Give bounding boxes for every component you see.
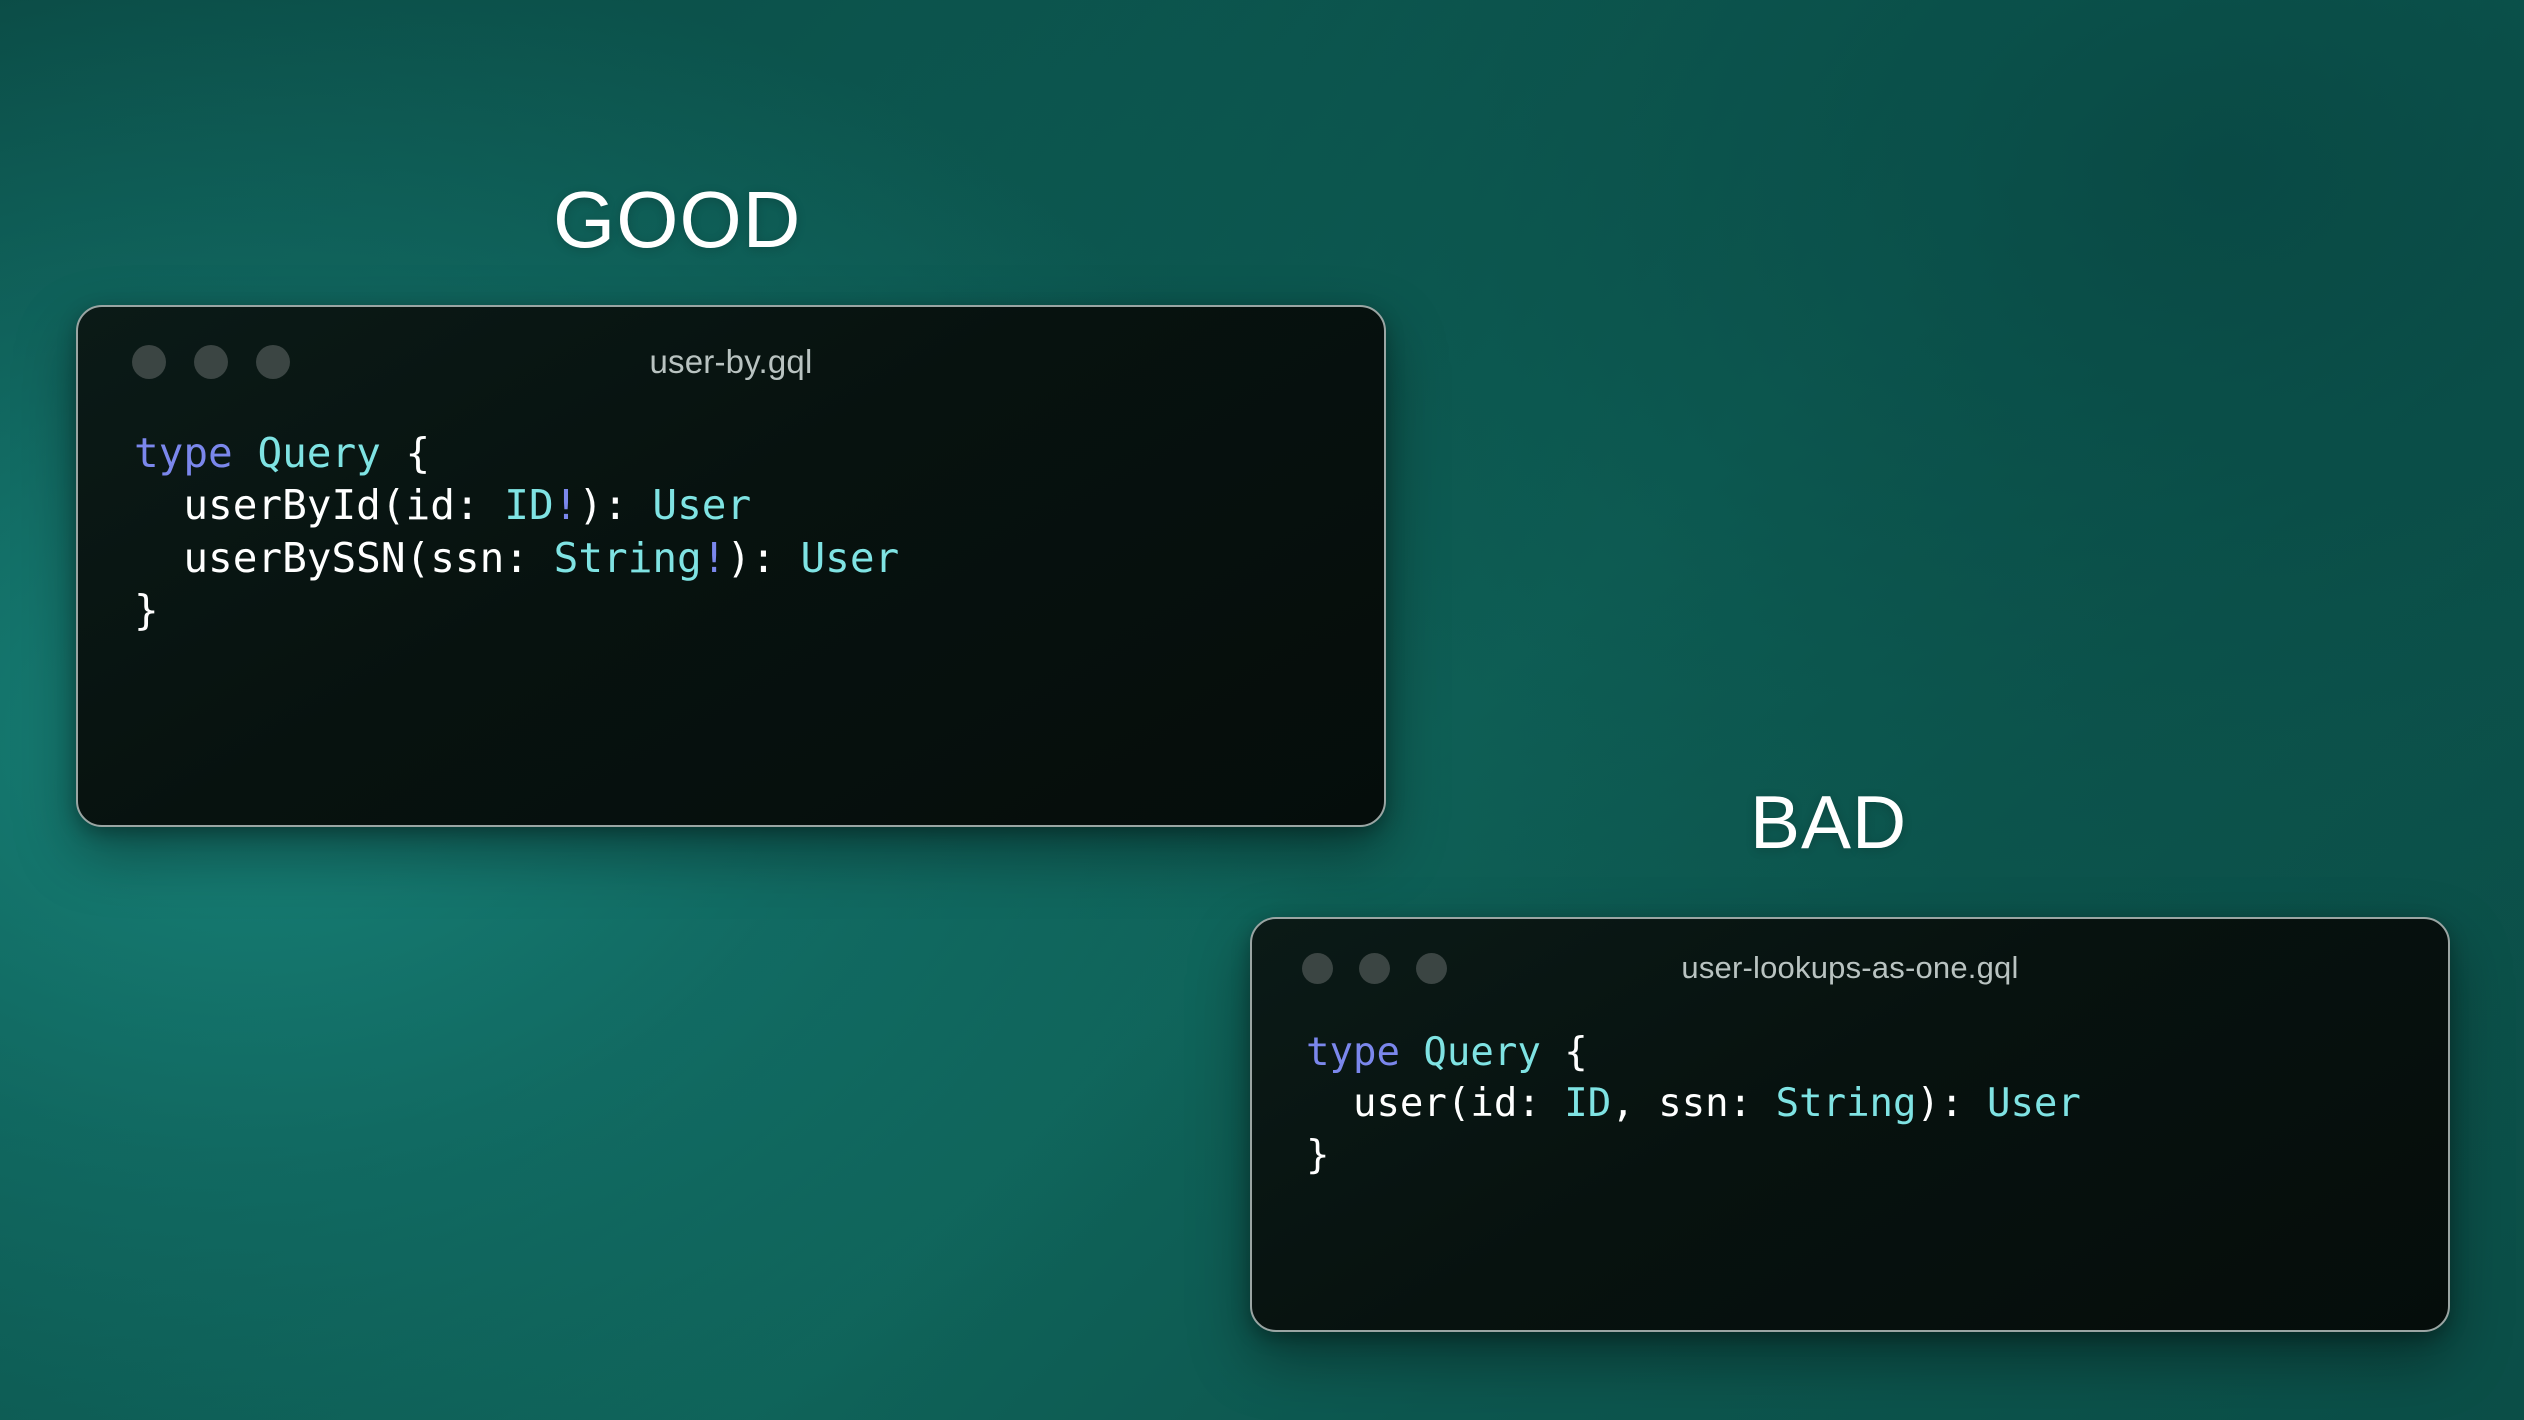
minimize-dot-icon[interactable] [1359, 953, 1390, 984]
code-token: ): [726, 534, 800, 582]
code-body: type Query { user(id: ID, ssn: String): … [1252, 1017, 2448, 1181]
code-token: ): [578, 481, 652, 529]
code-block: type Query { userById(id: ID!): User use… [78, 427, 1384, 637]
code-token: ): [1917, 1081, 1987, 1126]
close-dot-icon[interactable] [1302, 953, 1333, 984]
code-token: ID [1564, 1081, 1611, 1126]
code-window-bad: user-lookups-as-one.gql type Query { use… [1250, 917, 2450, 1332]
code-token [1400, 1030, 1423, 1075]
close-dot-icon[interactable] [132, 345, 166, 379]
code-token: { [1541, 1030, 1588, 1075]
code-token: String [554, 534, 702, 582]
code-token: user(id: [1306, 1081, 1564, 1126]
code-token: User [652, 481, 751, 529]
traffic-light-group [1302, 953, 1447, 984]
maximize-dot-icon[interactable] [256, 345, 290, 379]
code-token: User [1987, 1081, 2081, 1126]
code-token: ID [504, 481, 553, 529]
good-example-label: GOOD [553, 180, 801, 260]
code-token: type [134, 429, 233, 477]
bad-example-label: BAD [1750, 785, 1907, 860]
code-token: , ssn: [1611, 1081, 1775, 1126]
code-token: ! [702, 534, 727, 582]
code-block: type Query { user(id: ID, ssn: String): … [1252, 1027, 2448, 1181]
code-token: ! [554, 481, 579, 529]
code-token: type [1306, 1030, 1400, 1075]
traffic-light-group [132, 345, 290, 379]
slide-canvas: GOOD user-by.gql type Query { userById(i… [0, 0, 2524, 1420]
code-token: userBySSN(ssn: [134, 534, 554, 582]
code-token: Query [257, 429, 380, 477]
code-token [233, 429, 258, 477]
maximize-dot-icon[interactable] [1416, 953, 1447, 984]
code-token: { [381, 429, 430, 477]
code-body: type Query { userById(id: ID!): User use… [78, 417, 1384, 637]
window-titlebar: user-by.gql [78, 307, 1384, 417]
code-token: userById(id: [134, 481, 504, 529]
code-token: } [134, 586, 159, 634]
code-token: Query [1423, 1030, 1540, 1075]
code-token: } [1306, 1133, 1329, 1178]
window-titlebar: user-lookups-as-one.gql [1252, 919, 2448, 1017]
code-token: String [1776, 1081, 1917, 1126]
code-window-good: user-by.gql type Query { userById(id: ID… [76, 305, 1386, 827]
code-token: User [801, 534, 900, 582]
minimize-dot-icon[interactable] [194, 345, 228, 379]
